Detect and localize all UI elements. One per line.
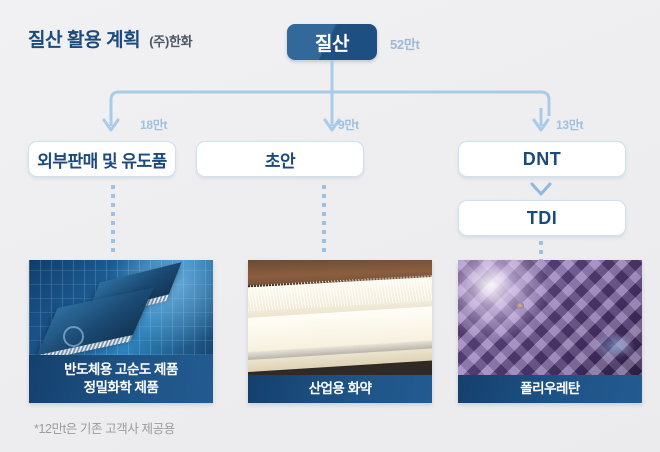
node-label-tdi: TDI <box>527 208 558 229</box>
node-box-external-sales: 외부판매 및 유도품 <box>28 141 176 177</box>
dotted-connector-tdi <box>539 241 543 261</box>
flow-amount-choan: 9만t <box>338 116 359 133</box>
infographic-canvas: 질산 활용 계획 (주)한화 질산 52만t 18만t 9만t 13만t 외부판… <box>0 0 660 452</box>
title-company-text: (주)한화 <box>149 31 192 50</box>
node-label-choan: 초안 <box>265 147 295 172</box>
title-main-text: 질산 활용 계획 <box>28 25 140 52</box>
caption-text: 폴리우레탄 <box>520 380 580 398</box>
root-amount-label: 52만t <box>390 34 420 53</box>
caption-line-1: 반도체용 고순도 제품 <box>64 361 178 379</box>
product-caption-polyurethane: 폴리우레탄 <box>458 375 642 403</box>
product-caption-semiconductor: 반도체용 고순도 제품 정밀화학 제품 <box>29 355 213 403</box>
flow-amount-sales: 18만t <box>140 116 167 133</box>
flow-amount-dnt: 13만t <box>556 116 583 133</box>
polyurethane-foam-photo <box>458 260 642 375</box>
node-box-dnt: DNT <box>458 141 626 177</box>
node-label-dnt: DNT <box>523 149 562 170</box>
dotted-connector-sales <box>111 185 115 255</box>
node-label-external-sales: 외부판매 및 유도품 <box>37 147 167 172</box>
product-card-semiconductor: 반도체용 고순도 제품 정밀화학 제품 <box>29 260 213 403</box>
page-title: 질산 활용 계획 (주)한화 <box>28 25 192 52</box>
semiconductor-chips-photo <box>29 260 213 355</box>
caption-text: 산업용 화약 <box>309 380 372 398</box>
node-box-tdi: TDI <box>458 200 626 236</box>
product-card-explosive: 산업용 화약 <box>248 260 432 403</box>
industrial-explosive-photo <box>248 260 432 375</box>
product-card-polyurethane: 폴리우레탄 <box>458 260 642 403</box>
product-caption-explosive: 산업용 화약 <box>248 375 432 403</box>
root-node-label: 질산 <box>315 29 349 56</box>
caption-line-2: 정밀화학 제품 <box>64 379 178 397</box>
dotted-connector-choan <box>322 185 326 255</box>
root-node-nitric-acid: 질산 <box>287 24 377 60</box>
node-box-choan: 초안 <box>196 141 364 177</box>
footnote-text: *12만t은 기존 고객사 제공용 <box>34 418 175 437</box>
